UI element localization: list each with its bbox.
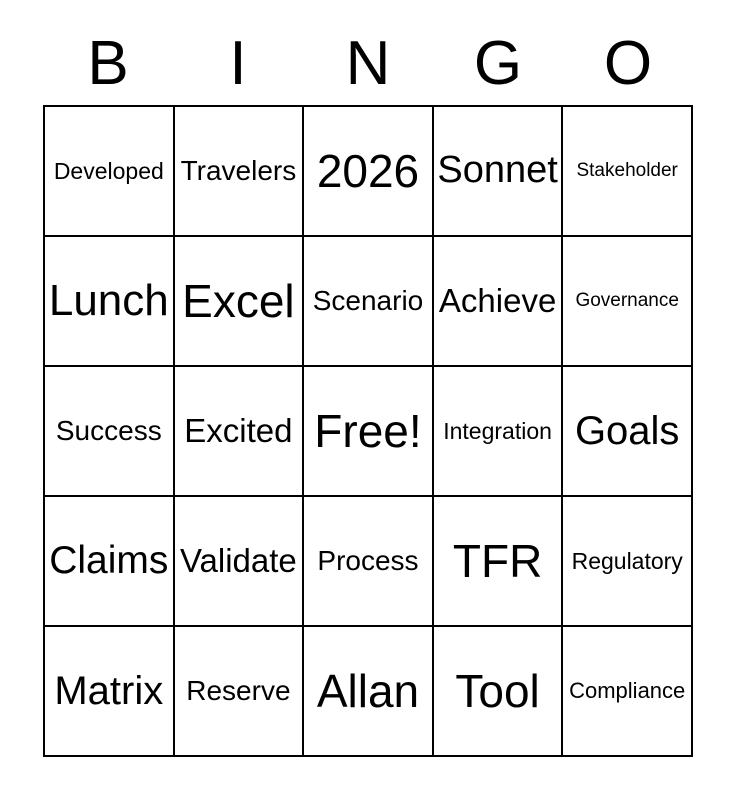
bingo-cell-label: Validate	[180, 544, 297, 579]
bingo-cell-n4[interactable]: Process	[304, 497, 434, 627]
bingo-cell-g2[interactable]: Achieve	[434, 237, 564, 367]
bingo-cell-label: Governance	[575, 291, 679, 311]
bingo-cell-i5[interactable]: Reserve	[175, 627, 305, 757]
bingo-cell-o5[interactable]: Compliance	[563, 627, 693, 757]
bingo-cell-b3[interactable]: Success	[45, 367, 175, 497]
bingo-header-letter-o: O	[563, 22, 693, 105]
bingo-cell-label: Achieve	[439, 284, 556, 319]
bingo-cell-label: Tool	[455, 667, 539, 715]
bingo-cell-label: Compliance	[569, 679, 685, 702]
bingo-cell-label: 2026	[317, 147, 419, 195]
bingo-cell-o2[interactable]: Governance	[563, 237, 693, 367]
bingo-cell-free-space[interactable]: Free!	[304, 367, 434, 497]
bingo-cell-label: Travelers	[181, 156, 297, 185]
bingo-cell-label: Free!	[314, 407, 421, 455]
bingo-cell-label: Integration	[443, 419, 552, 443]
bingo-cell-i3[interactable]: Excited	[175, 367, 305, 497]
bingo-cell-b5[interactable]: Matrix	[45, 627, 175, 757]
bingo-cell-g4[interactable]: TFR	[434, 497, 564, 627]
bingo-grid: Developed Travelers 2026 Sonnet Stakehol…	[43, 105, 693, 757]
bingo-cell-label: Process	[317, 546, 418, 575]
bingo-cell-label: Success	[56, 416, 162, 445]
bingo-cell-label: Scenario	[313, 286, 424, 315]
bingo-cell-label: Sonnet	[437, 151, 557, 191]
bingo-cell-label: Reserve	[186, 676, 290, 705]
bingo-cell-o3[interactable]: Goals	[563, 367, 693, 497]
bingo-cell-label: Lunch	[49, 278, 169, 324]
bingo-cell-label: Developed	[54, 159, 164, 183]
bingo-cell-n5[interactable]: Allan	[304, 627, 434, 757]
bingo-cell-label: Excel	[182, 277, 294, 325]
bingo-cell-label: Excited	[184, 414, 292, 449]
bingo-cell-i1[interactable]: Travelers	[175, 107, 305, 237]
bingo-cell-g5[interactable]: Tool	[434, 627, 564, 757]
bingo-cell-i2[interactable]: Excel	[175, 237, 305, 367]
bingo-header-row: B I N G O	[43, 22, 693, 105]
bingo-cell-b1[interactable]: Developed	[45, 107, 175, 237]
bingo-header-letter-i: I	[173, 22, 303, 105]
bingo-header-letter-g: G	[433, 22, 563, 105]
bingo-cell-b4[interactable]: Claims	[45, 497, 175, 627]
bingo-cell-n2[interactable]: Scenario	[304, 237, 434, 367]
bingo-cell-label: Matrix	[54, 670, 163, 712]
bingo-header-letter-b: B	[43, 22, 173, 105]
bingo-cell-o4[interactable]: Regulatory	[563, 497, 693, 627]
bingo-cell-label: TFR	[453, 537, 542, 585]
bingo-cell-i4[interactable]: Validate	[175, 497, 305, 627]
bingo-cell-o1[interactable]: Stakeholder	[563, 107, 693, 237]
bingo-cell-label: Allan	[317, 667, 419, 715]
bingo-cell-label: Claims	[49, 541, 168, 582]
bingo-cell-label: Regulatory	[572, 549, 683, 573]
bingo-cell-n1[interactable]: 2026	[304, 107, 434, 237]
bingo-cell-label: Stakeholder	[576, 161, 677, 181]
bingo-card: B I N G O Developed Travelers 2026 Sonne…	[0, 0, 736, 800]
bingo-cell-g3[interactable]: Integration	[434, 367, 564, 497]
bingo-header-letter-n: N	[303, 22, 433, 105]
bingo-cell-label: Goals	[575, 410, 680, 452]
bingo-cell-b2[interactable]: Lunch	[45, 237, 175, 367]
bingo-cell-g1[interactable]: Sonnet	[434, 107, 564, 237]
